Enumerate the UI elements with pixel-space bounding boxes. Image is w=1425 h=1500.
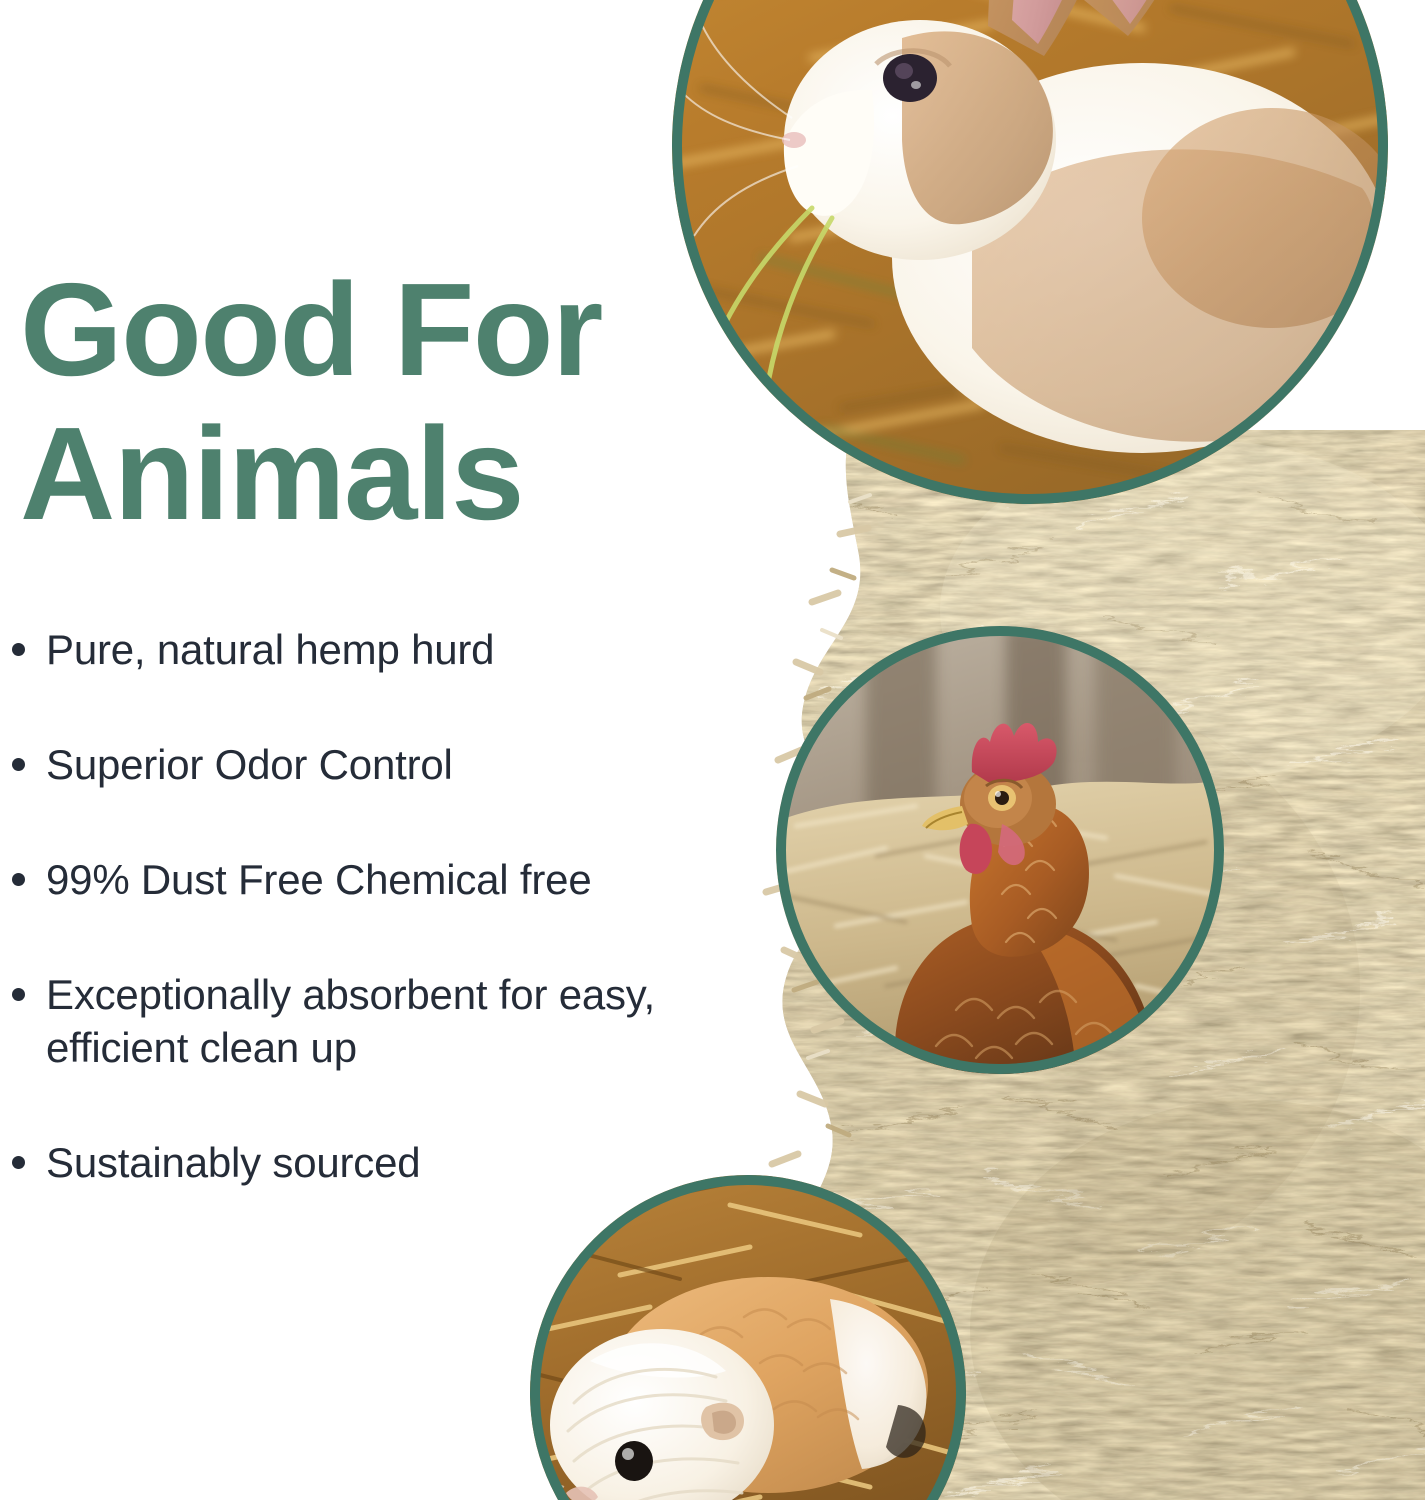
guinea-pig-photo: [530, 1175, 966, 1500]
bullet-dot-icon: [12, 643, 25, 656]
bullet-dot-icon: [12, 873, 25, 886]
rabbit-photo-image: [672, 0, 1388, 504]
feature-label: 99% Dust Free Chemical free: [46, 856, 591, 903]
chicken-photo-image: [776, 626, 1224, 1074]
feature-label: Sustainably sourced: [46, 1139, 420, 1186]
bullet-dot-icon: [12, 988, 25, 1001]
rabbit-photo: [672, 0, 1388, 504]
feature-label: Pure, natural hemp hurd: [46, 626, 494, 673]
feature-label: Superior Odor Control: [46, 741, 453, 788]
chicken-photo: [776, 626, 1224, 1074]
page-title: Good For Animals: [20, 258, 640, 546]
list-item: Pure, natural hemp hurd: [8, 624, 720, 677]
guinea-pig-photo-image: [530, 1175, 966, 1500]
list-item: 99% Dust Free Chemical free: [8, 854, 720, 907]
feature-list: Pure, natural hemp hurd Superior Odor Co…: [8, 624, 720, 1189]
list-item: Exceptionally absorbent for easy, effici…: [8, 969, 720, 1075]
feature-label: Exceptionally absorbent for easy, effici…: [46, 971, 655, 1071]
list-item: Superior Odor Control: [8, 739, 720, 792]
bullet-dot-icon: [12, 1156, 25, 1169]
product-feature-panel: Good For Animals Pure, natural hemp hurd…: [0, 0, 1425, 1500]
bullet-dot-icon: [12, 758, 25, 771]
